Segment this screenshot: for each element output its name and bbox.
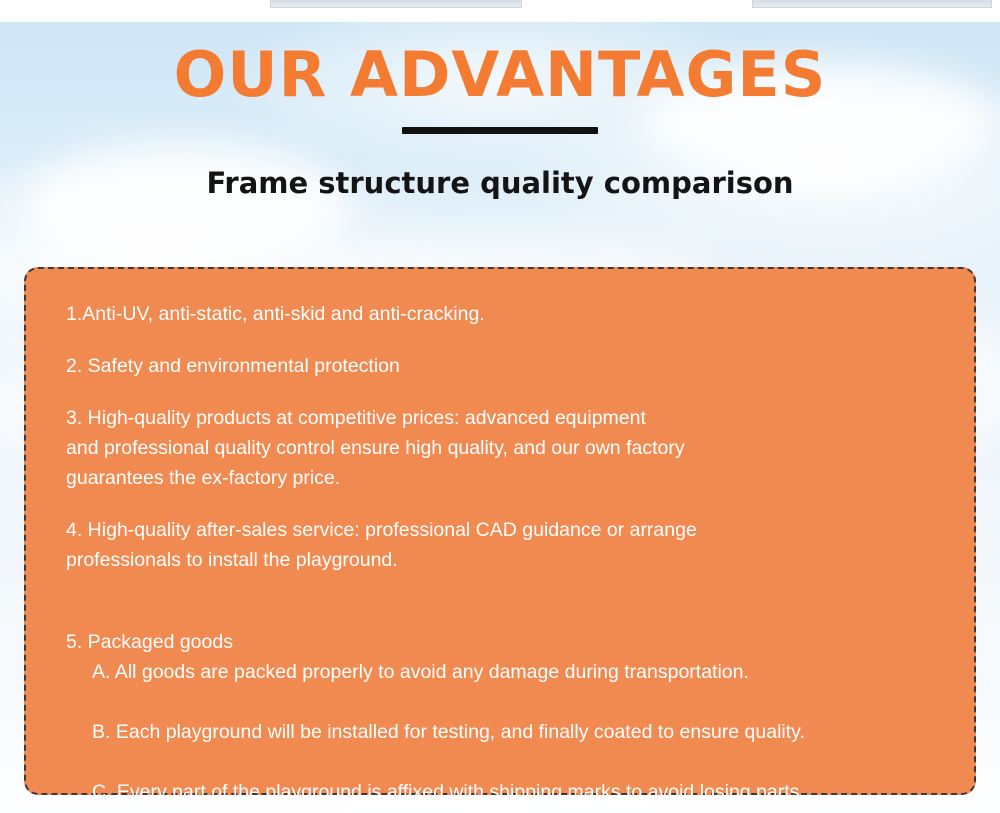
heading-block: OUR ADVANTAGES Frame structure quality c…: [0, 40, 1000, 200]
list-item-sub-c: C. Every part of the playground is affix…: [66, 777, 940, 807]
list-item: 5. Packaged goods A. All goods are packe…: [66, 597, 940, 813]
list-item: 1.Anti-UV, anti-static, anti-skid and an…: [66, 299, 940, 329]
list-item-sub-a: A. All goods are packed properly to avoi…: [66, 657, 940, 687]
list-item: 4. High-quality after-sales service: pro…: [66, 515, 940, 575]
advantages-panel: 1.Anti-UV, anti-static, anti-skid and an…: [24, 267, 976, 795]
list-item-heading: 5. Packaged goods: [66, 631, 233, 653]
page-title: OUR ADVANTAGES: [0, 40, 1000, 109]
list-item-sub-b: B. Each playground will be installed for…: [66, 717, 940, 747]
list-item: 2. Safety and environmental protection: [66, 351, 940, 381]
list-item: 3. High-quality products at competitive …: [66, 403, 940, 493]
previous-image-left-edge: [270, 0, 522, 8]
page-subtitle: Frame structure quality comparison: [0, 166, 1000, 200]
advantages-list: 1.Anti-UV, anti-static, anti-skid and an…: [26, 269, 974, 813]
title-divider: [402, 127, 598, 134]
previous-image-right-edge: [752, 0, 992, 8]
page-root: OUR ADVANTAGES Frame structure quality c…: [0, 0, 1000, 813]
previous-section-strip: [0, 0, 1000, 22]
